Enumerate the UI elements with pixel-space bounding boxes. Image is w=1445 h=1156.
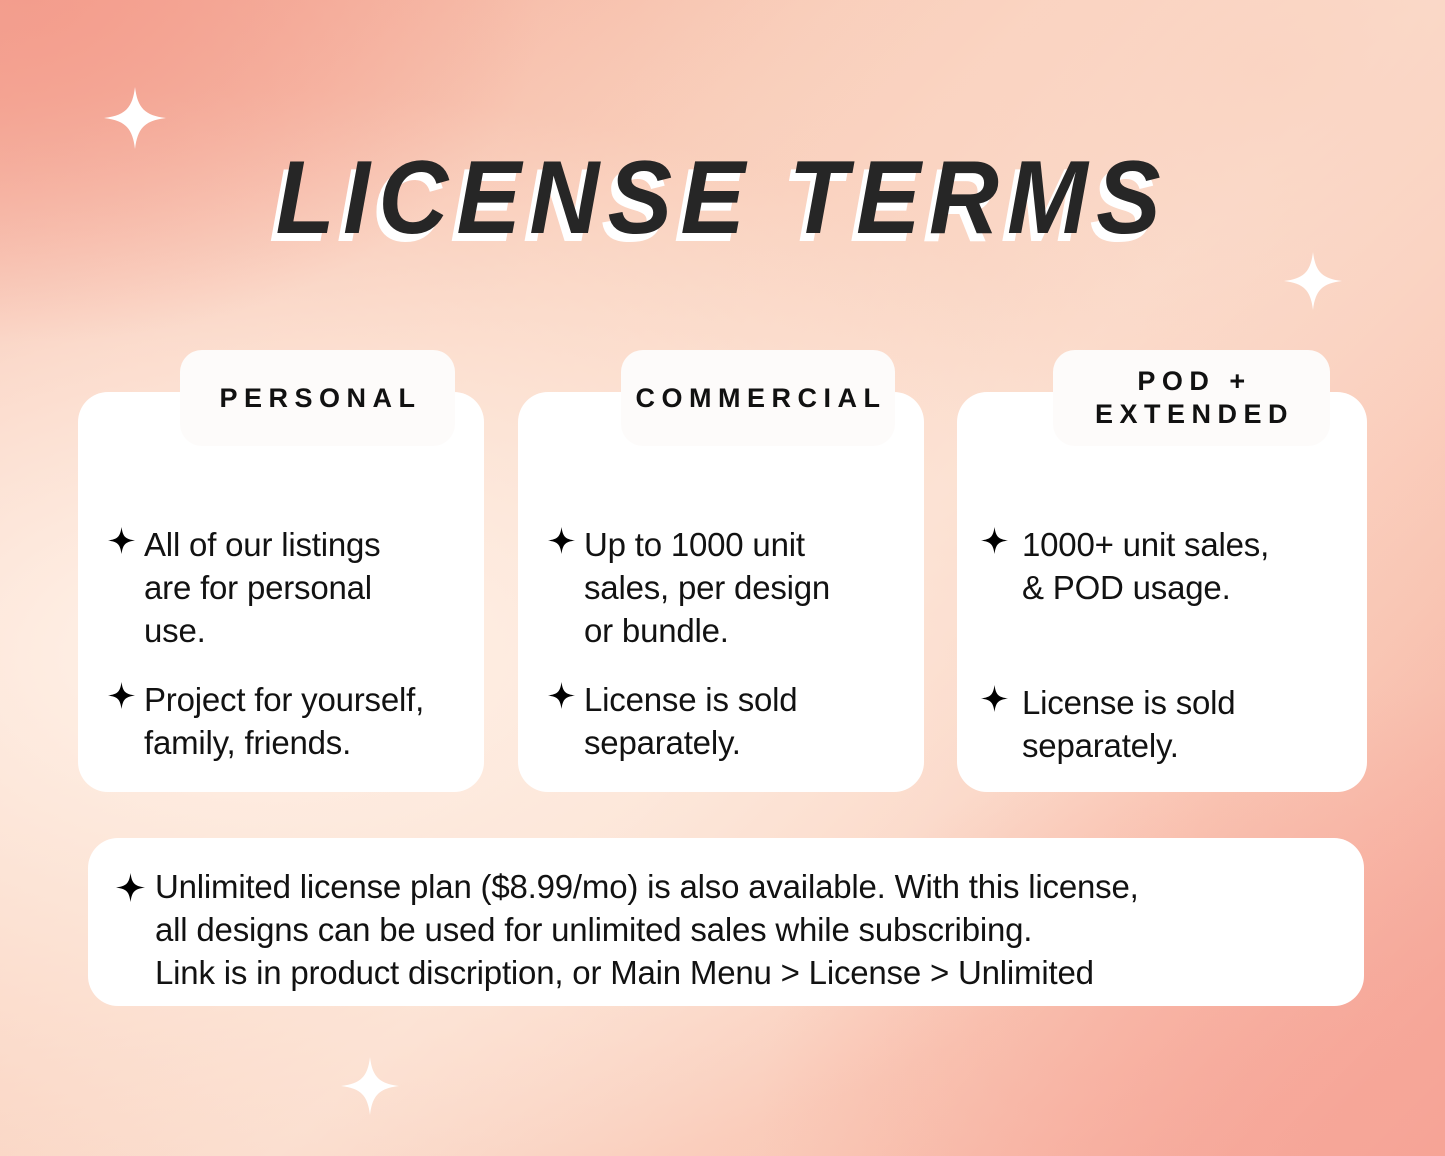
list-item-text: License is sold separately.: [584, 679, 797, 765]
card-badge-label: COMMERCIAL: [630, 382, 887, 415]
license-terms-graphic: LICENSE TERMS All of our listings are fo…: [0, 0, 1445, 1156]
list-item: Up to 1000 unit sales, per design or bun…: [548, 524, 898, 653]
bullet-list-personal: All of our listings are for personal use…: [108, 524, 458, 764]
four-point-star-icon: [981, 684, 1008, 713]
card-badge-label: POD + EXTENDED: [1089, 365, 1294, 431]
unlimited-plan-text: Unlimited license plan ($8.99/mo) is als…: [155, 866, 1139, 995]
four-point-star-icon: [108, 681, 135, 710]
list-item-text: Up to 1000 unit sales, per design or bun…: [584, 524, 830, 653]
card-body-pod-extended: 1000+ unit sales, & POD usage. License i…: [957, 524, 1367, 840]
list-item: Project for yourself, family, friends.: [108, 679, 458, 765]
bullet-list-pod-extended: 1000+ unit sales, & POD usage. License i…: [981, 524, 1341, 768]
license-cards: All of our listings are for personal use…: [78, 350, 1367, 792]
list-item-text: 1000+ unit sales, & POD usage.: [1022, 524, 1269, 610]
card-badge-label: PERSONAL: [213, 382, 421, 415]
license-card-pod-extended: 1000+ unit sales, & POD usage. License i…: [957, 392, 1367, 792]
four-point-star-icon: [548, 681, 575, 710]
unlimited-plan-banner-inner: Unlimited license plan ($8.99/mo) is als…: [88, 838, 1364, 995]
list-item: All of our listings are for personal use…: [108, 524, 458, 653]
card-badge-pod-extended: POD + EXTENDED: [1053, 350, 1330, 446]
list-item-text: Project for yourself, family, friends.: [144, 679, 424, 765]
four-point-star-icon: [116, 872, 145, 903]
list-item: License is sold separately.: [981, 682, 1341, 768]
page-title: LICENSE TERMS: [276, 146, 1169, 250]
card-body-commercial: Up to 1000 unit sales, per design or bun…: [518, 524, 924, 790]
license-card-personal: All of our listings are for personal use…: [78, 392, 484, 792]
card-badge-commercial: COMMERCIAL: [621, 350, 895, 446]
list-item: 1000+ unit sales, & POD usage.: [981, 524, 1341, 610]
list-item-text: License is sold separately.: [1022, 682, 1235, 768]
page-title-wrap: LICENSE TERMS: [0, 146, 1445, 250]
bullet-list-commercial: Up to 1000 unit sales, per design or bun…: [548, 524, 898, 764]
four-point-star-icon: [108, 526, 135, 555]
license-card-commercial: Up to 1000 unit sales, per design or bun…: [518, 392, 924, 792]
list-item-text: All of our listings are for personal use…: [144, 524, 380, 653]
unlimited-plan-banner: Unlimited license plan ($8.99/mo) is als…: [88, 838, 1364, 1006]
card-body-personal: All of our listings are for personal use…: [78, 524, 484, 790]
card-badge-personal: PERSONAL: [180, 350, 455, 446]
four-point-star-icon: [981, 526, 1008, 555]
four-point-star-icon: [548, 526, 575, 555]
list-item: License is sold separately.: [548, 679, 898, 765]
